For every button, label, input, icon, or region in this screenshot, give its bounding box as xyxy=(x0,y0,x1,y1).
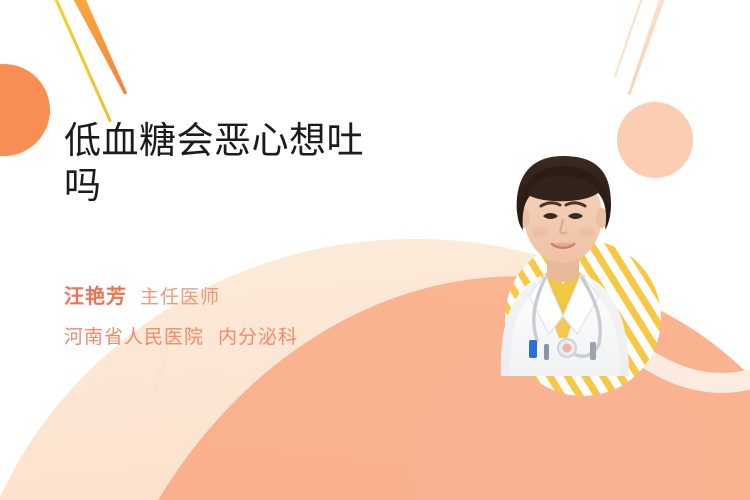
doctor-head xyxy=(517,156,611,263)
faint-stripe-decoration xyxy=(149,358,168,397)
peach-thin-stripe-decoration xyxy=(614,0,647,77)
doctor-title: 主任医师 xyxy=(140,282,220,309)
text-block: 低血糖会恶心想吐 吗 汪艳芳 主任医师 河南省人民医院 内分泌科 xyxy=(64,118,424,349)
doctor-department: 内分泌科 xyxy=(218,322,298,349)
orange-circle-decoration xyxy=(0,64,50,156)
doctor-name: 汪艳芳 xyxy=(64,280,127,309)
peach-thick-stripe-decoration xyxy=(626,0,669,96)
doctor-portrait xyxy=(441,108,681,378)
yellow-stripe-decoration xyxy=(44,0,112,122)
doctor-hospital-row: 河南省人民医院 内分泌科 xyxy=(64,322,424,349)
orange-stripe-decoration xyxy=(63,0,132,97)
doctor-info-card: 低血糖会恶心想吐 吗 汪艳芳 主任医师 河南省人民医院 内分泌科 xyxy=(0,0,750,500)
page-title: 低血糖会恶心想吐 吗 xyxy=(64,118,424,208)
badge-blue xyxy=(529,340,537,358)
doctor-hospital: 河南省人民医院 xyxy=(64,322,204,349)
doctor-coat xyxy=(501,270,629,376)
doctor-name-row: 汪艳芳 主任医师 xyxy=(64,280,424,309)
